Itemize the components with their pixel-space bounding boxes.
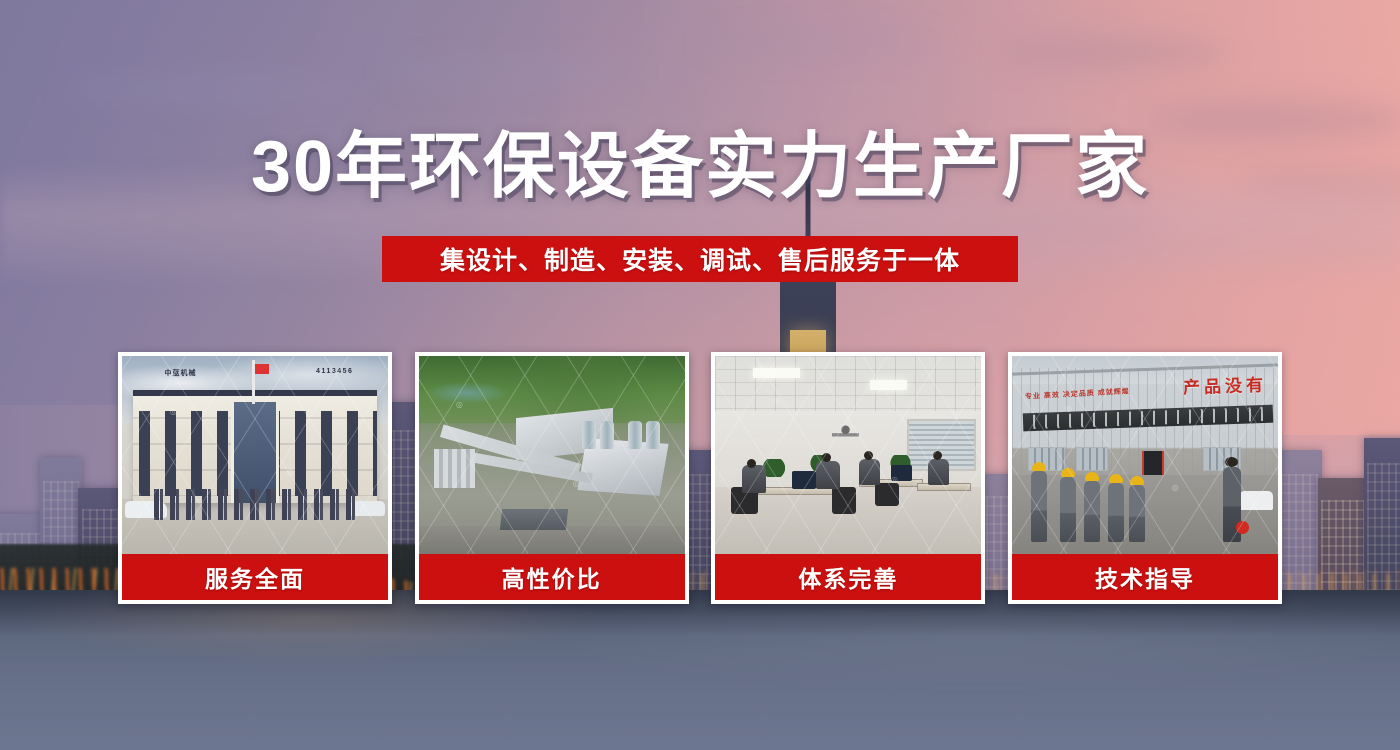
photo-base: 中蓝机械 4113456	[122, 356, 388, 554]
photo-wall-decal	[832, 421, 859, 443]
photo-worker-4	[1108, 483, 1124, 542]
photo-staff-row	[154, 489, 356, 521]
photo-entrance	[231, 402, 280, 502]
photo-phone-number: 4113456	[316, 368, 353, 375]
photo-ceiling-lamp-2	[870, 380, 907, 390]
feature-card-list: 中蓝机械 4113456 ◎ ◎ 服务全面	[118, 352, 1282, 604]
photo-company-sign: 中蓝机械	[165, 368, 197, 378]
card-caption-system: 体系完善	[715, 554, 981, 600]
feature-card-guidance[interactable]: 产品没有 专业 高效 决定品质 成就辉煌	[1008, 352, 1282, 604]
photo-silo-1	[582, 421, 596, 450]
photo-person-4	[928, 459, 949, 485]
river-reflections	[0, 590, 1400, 750]
helmet-icon	[1085, 472, 1099, 481]
photo-chair-2	[832, 487, 856, 515]
photo-flagpole	[252, 360, 255, 404]
photo-silo-4	[646, 421, 660, 450]
photo-base: 产品没有 专业 高效 决定品质 成就辉煌	[1012, 356, 1278, 554]
photo-process-tower	[434, 449, 475, 488]
photo-ceiling-lamp-1	[753, 368, 801, 378]
photo-person-head-2	[822, 453, 831, 462]
photo-plant-structures	[424, 407, 679, 538]
photo-monitor-1	[792, 471, 816, 489]
red-helmet-icon	[1236, 521, 1249, 534]
hero-banner: 30年环保设备实力生产厂家 集设计、制造、安装、调试、售后服务于一体 中蓝机械 …	[0, 0, 1400, 750]
photo-person-2	[816, 461, 840, 489]
subtitle-banner: 集设计、制造、安装、调试、售后服务于一体	[382, 236, 1018, 282]
card-photo-office: ◎ ◎	[715, 356, 981, 554]
photo-office-building	[133, 390, 378, 503]
helmet-icon	[1130, 476, 1144, 485]
card-caption-value: 高性价比	[419, 554, 685, 600]
photo-monitor-2	[891, 465, 912, 481]
photo-factory-slogan: 产品没有	[1183, 370, 1268, 398]
photo-worker-2	[1060, 477, 1076, 542]
photo-person-1	[742, 465, 766, 493]
photo-worker-1	[1031, 471, 1047, 542]
feature-card-system[interactable]: ◎ ◎ 体系完善	[711, 352, 985, 604]
subtitle-text: 集设计、制造、安装、调试、售后服务于一体	[440, 241, 960, 277]
photo-factory-window-2	[1076, 447, 1108, 471]
photo-base	[419, 356, 685, 554]
helmet-icon	[1061, 468, 1075, 477]
card-photo-headquarters: 中蓝机械 4113456 ◎ ◎	[122, 356, 388, 554]
card-photo-workers: 产品没有 专业 高效 决定品质 成就辉煌	[1012, 356, 1278, 554]
photo-person-3	[859, 459, 880, 485]
photo-chair-3	[875, 483, 899, 507]
photo-parked-car	[1238, 491, 1273, 511]
photo-silo-2	[600, 421, 614, 450]
photo-worker-3	[1084, 481, 1100, 542]
photo-silo-3	[628, 421, 642, 450]
helmet-icon	[1109, 474, 1123, 483]
card-caption-service: 服务全面	[122, 554, 388, 600]
photo-worker-5	[1129, 485, 1145, 542]
feature-card-value[interactable]: ◎ ◎ 高性价比	[415, 352, 689, 604]
card-caption-guidance: 技术指导	[1012, 554, 1278, 600]
feature-card-service[interactable]: 中蓝机械 4113456 ◎ ◎ 服务全面	[118, 352, 392, 604]
helmet-icon	[1032, 462, 1046, 471]
page-title: 30年环保设备实力生产厂家	[0, 131, 1400, 203]
photo-shed	[499, 509, 568, 530]
card-photo-plant: ◎ ◎	[419, 356, 685, 554]
photo-base	[715, 356, 981, 554]
photo-ceiling	[715, 356, 981, 411]
